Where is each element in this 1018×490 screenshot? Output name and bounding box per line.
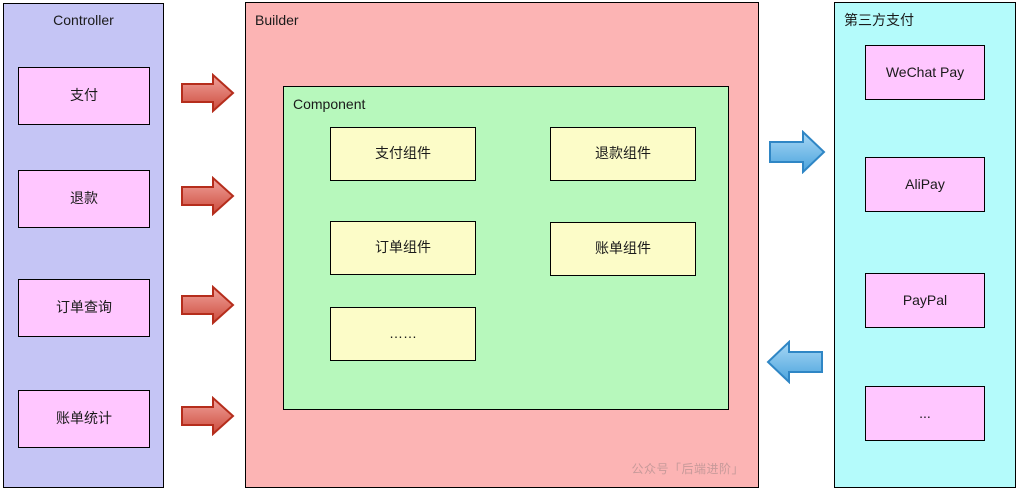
- diagram-canvas: Controller 支付 退款 订单查询 账单统计: [0, 0, 1018, 490]
- controller-item-refund[interactable]: 退款: [18, 170, 150, 228]
- arrow-thirdparty-to-builder: [766, 340, 824, 384]
- controller-panel-title: Controller: [4, 13, 163, 27]
- arrow-controller-to-builder-3: [180, 285, 235, 325]
- arrow-controller-to-builder-4: [180, 396, 235, 436]
- component-item-payment[interactable]: 支付组件: [330, 127, 476, 181]
- thirdparty-item-wechat-pay[interactable]: WeChat Pay: [865, 45, 985, 100]
- component-panel-title: Component: [293, 97, 365, 111]
- arrow-left-icon: [766, 340, 824, 384]
- thirdparty-item-more[interactable]: ...: [865, 386, 985, 441]
- component-item-bill[interactable]: 账单组件: [550, 222, 696, 276]
- arrow-right-icon: [180, 285, 235, 325]
- arrow-right-icon: [180, 176, 235, 216]
- component-item-more[interactable]: ……: [330, 307, 476, 361]
- controller-item-bill-stats[interactable]: 账单统计: [18, 390, 150, 448]
- builder-panel: Builder Component 支付组件 退款组件 订单组件 账单组件 ………: [245, 2, 759, 488]
- arrow-right-icon: [768, 130, 826, 174]
- controller-item-payment[interactable]: 支付: [18, 67, 150, 125]
- thirdparty-item-paypal[interactable]: PayPal: [865, 273, 985, 328]
- controller-item-order-query[interactable]: 订单查询: [18, 279, 150, 337]
- arrow-controller-to-builder-2: [180, 176, 235, 216]
- controller-panel: Controller 支付 退款 订单查询 账单统计: [3, 3, 164, 488]
- component-item-order[interactable]: 订单组件: [330, 221, 476, 275]
- component-item-refund[interactable]: 退款组件: [550, 127, 696, 181]
- watermark-text: 公众号「后端进阶」: [631, 460, 744, 477]
- component-panel: Component 支付组件 退款组件 订单组件 账单组件 ……: [283, 86, 729, 410]
- arrow-right-icon: [180, 73, 235, 113]
- thirdparty-item-alipay[interactable]: AliPay: [865, 157, 985, 212]
- arrow-builder-to-thirdparty: [768, 130, 826, 174]
- thirdparty-payment-panel: 第三方支付 WeChat Pay AliPay PayPal ...: [834, 2, 1016, 488]
- builder-panel-title: Builder: [255, 13, 299, 27]
- arrow-right-icon: [180, 396, 235, 436]
- arrow-controller-to-builder-1: [180, 73, 235, 113]
- thirdparty-panel-title: 第三方支付: [844, 13, 914, 27]
